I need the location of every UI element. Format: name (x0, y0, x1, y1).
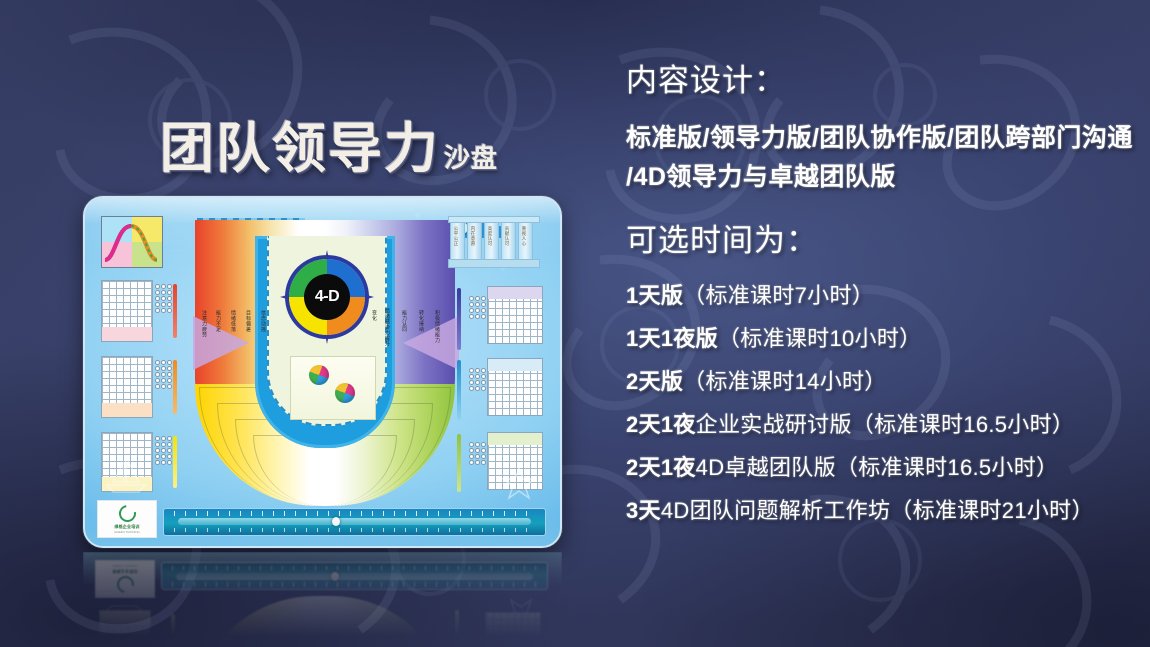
pillars-graphic: 公平公正 内在意愿 高度认可 贡献认可 重视人心 (448, 216, 540, 268)
value-bar-right-2 (457, 360, 461, 420)
pillar-cap (448, 216, 540, 223)
content-design-heading: 内容设计： (626, 62, 1142, 101)
starfish-decoration-icon (502, 466, 536, 500)
lane-label-right-3: 能力认同 (401, 310, 408, 332)
reflection-token-dots-left-3 (153, 637, 170, 644)
mini-chart-graphic (290, 356, 376, 420)
quadrant-matrix-card (101, 216, 163, 268)
time-option-2-prefix: 1天1夜版 (626, 326, 718, 351)
time-option-6-prefix: 3天 (626, 498, 661, 523)
content-design-line-2: /4D领导力与卓越团队版 (626, 158, 1142, 197)
value-bar-right-3 (457, 434, 461, 492)
content-panel: 内容设计： 标准版/领导力版/团队协作版/团队跨部门沟通 /4D领导力与卓越团队… (626, 62, 1142, 527)
time-option-2: 1天1夜版（标准课时10小时） (626, 322, 1142, 355)
time-option-6: 3天4D团队问题解析工作坊（标准课时21小时） (626, 494, 1142, 527)
score-grid-right-1 (487, 286, 543, 344)
reflection-value-bar-right-3 (455, 610, 459, 644)
title-sub: 沙盘 (444, 143, 498, 173)
value-bar-left-3 (173, 436, 177, 488)
content-design-line-1: 标准版/领导力版/团队协作版/团队跨部门沟通 (626, 119, 1142, 158)
pillar-label-3: 高度认可 (487, 226, 493, 246)
time-option-1-prefix: 1天版 (626, 283, 683, 308)
timeline-slider[interactable] (163, 508, 546, 536)
reflection-logo-text: 绿格企业培训 (112, 569, 137, 575)
reflection-timeline-ticks-bottom (172, 566, 537, 570)
reflection-value-bar-left-3 (171, 614, 175, 644)
time-option-5: 2天1夜4D卓越团队版（标准课时16.5小时） (626, 451, 1142, 484)
value-bar-left-2 (173, 360, 177, 414)
time-option-6-paren: （标准课时21小时） (890, 498, 1093, 523)
time-option-3: 2天版（标准课时14小时） (626, 365, 1142, 398)
reflection-track-lower-lanes (193, 596, 453, 644)
sandbox-board-image: TO KNOW PLUS GAP TO DO (83, 196, 562, 548)
reflection-track-upper-lanes (193, 596, 453, 644)
reflection-score-grid-right-3 (485, 612, 541, 644)
value-bar-right-1 (457, 288, 461, 350)
reflection-score-grid-left-3 (99, 610, 151, 644)
token-dots-left-3 (155, 436, 172, 465)
reflection-timeline-ticks-top (172, 582, 537, 587)
lane-label-left-3: 情绪低落 (230, 310, 237, 332)
reflection-sailboat-decoration-icon (101, 602, 147, 644)
pillar-label-2: 内在意愿 (470, 226, 476, 246)
sailboat-decoration-icon (103, 452, 149, 496)
timeline-ticks-bottom (174, 528, 535, 532)
time-option-1-paren: （标准课时7小时） (683, 283, 874, 308)
pillar-label-4: 贡献认可 (504, 226, 510, 246)
value-bar-left-1 (173, 284, 177, 338)
pillar-label-1: 公平公正 (453, 226, 459, 246)
time-option-3-prefix: 2天版 (626, 369, 683, 394)
sphere-icon-2 (335, 383, 355, 403)
lane-label-right-5: 积极情绪能力 (434, 310, 441, 343)
page-title: 团队领导力沙盘 (160, 104, 498, 183)
reflection-timeline-slider[interactable] (161, 562, 548, 590)
reflection-board-canvas: TO KNOW PLUS GAP TO DO (83, 552, 562, 644)
timeline-knob[interactable] (332, 517, 340, 526)
lane-label-left-5: 信念动摇 (260, 310, 267, 332)
reflection-timeline-knob[interactable] (331, 572, 339, 581)
available-time-heading: 可选时间为： (626, 222, 1142, 261)
reflection-logo-subtext: GREEN TRAINING (112, 565, 138, 569)
reflection-token-dots-right-3 (467, 637, 484, 644)
reflection-board-bottom-highlight (83, 552, 562, 586)
reflection-starfish-decoration-icon (504, 598, 538, 632)
token-dots-left-1 (155, 284, 172, 313)
token-dots-right-2 (469, 368, 486, 391)
reflection-track-lane-lines (193, 596, 453, 644)
time-option-4-mid: 企业实战研讨版 (696, 412, 852, 437)
pillar-base (448, 259, 540, 268)
lane-label-right-2: 情绪感染力提升 (384, 308, 391, 347)
board-canvas: TO KNOW PLUS GAP TO DO (83, 196, 562, 548)
4d-compass-icon: 4-D (280, 250, 374, 344)
time-option-3-paren: （标准课时14小时） (683, 369, 886, 394)
token-dots-right-1 (469, 296, 486, 319)
time-option-4-prefix: 2天1夜 (626, 412, 696, 437)
lane-label-left-2: 能力不足 (215, 310, 222, 332)
sphere-icon-1 (309, 365, 329, 385)
brand-logo: 绿格企业培训 GREEN TRAINING (97, 500, 157, 538)
timeline-ticks-top (174, 511, 535, 516)
lane-label-right-4: 转化接纳 (418, 310, 425, 332)
reflection-stadium-track (193, 596, 453, 644)
logo-subtext: GREEN TRAINING (114, 530, 140, 534)
time-option-4: 2天1夜企业实战研讨版（标准课时16.5小时） (626, 408, 1142, 441)
lane-label-left-1: 注意力疲劳 (201, 310, 208, 338)
compass-hub-label: 4-D (304, 274, 350, 320)
title-main: 团队领导力 (160, 119, 440, 179)
score-grid-left-1 (101, 280, 153, 342)
token-dots-right-3 (469, 442, 486, 465)
score-grid-left-2 (101, 356, 153, 418)
time-option-1: 1天版（标准课时7小时） (626, 279, 1142, 312)
slide-root: 团队领导力沙盘 TO KNOW PLUS GAP T (0, 0, 1150, 647)
time-option-6-mid: 4D团队问题解析工作坊 (661, 498, 890, 523)
time-option-5-mid: 4D卓越团队版 (696, 455, 836, 480)
reflection-leaf-logo-icon (113, 573, 137, 597)
reflection-brand-logo: 绿格企业培训 GREEN TRAINING (95, 560, 155, 598)
time-option-5-paren: （标准课时16.5小时） (836, 455, 1058, 480)
time-option-5-prefix: 2天1夜 (626, 455, 696, 480)
lane-label-left-4: 目标偏差 (245, 310, 252, 332)
board-reflection: TO KNOW PLUS GAP TO DO (83, 552, 562, 644)
reflection-board-water-texture (83, 552, 562, 644)
time-option-2-paren: （标准课时10小时） (718, 326, 921, 351)
leaf-logo-icon (115, 501, 139, 525)
score-grid-right-2 (487, 358, 543, 416)
token-dots-left-2 (155, 360, 172, 389)
pillar-label-5: 重视人心 (521, 226, 527, 246)
time-option-4-paren: （标准课时16.5小时） (852, 412, 1074, 437)
